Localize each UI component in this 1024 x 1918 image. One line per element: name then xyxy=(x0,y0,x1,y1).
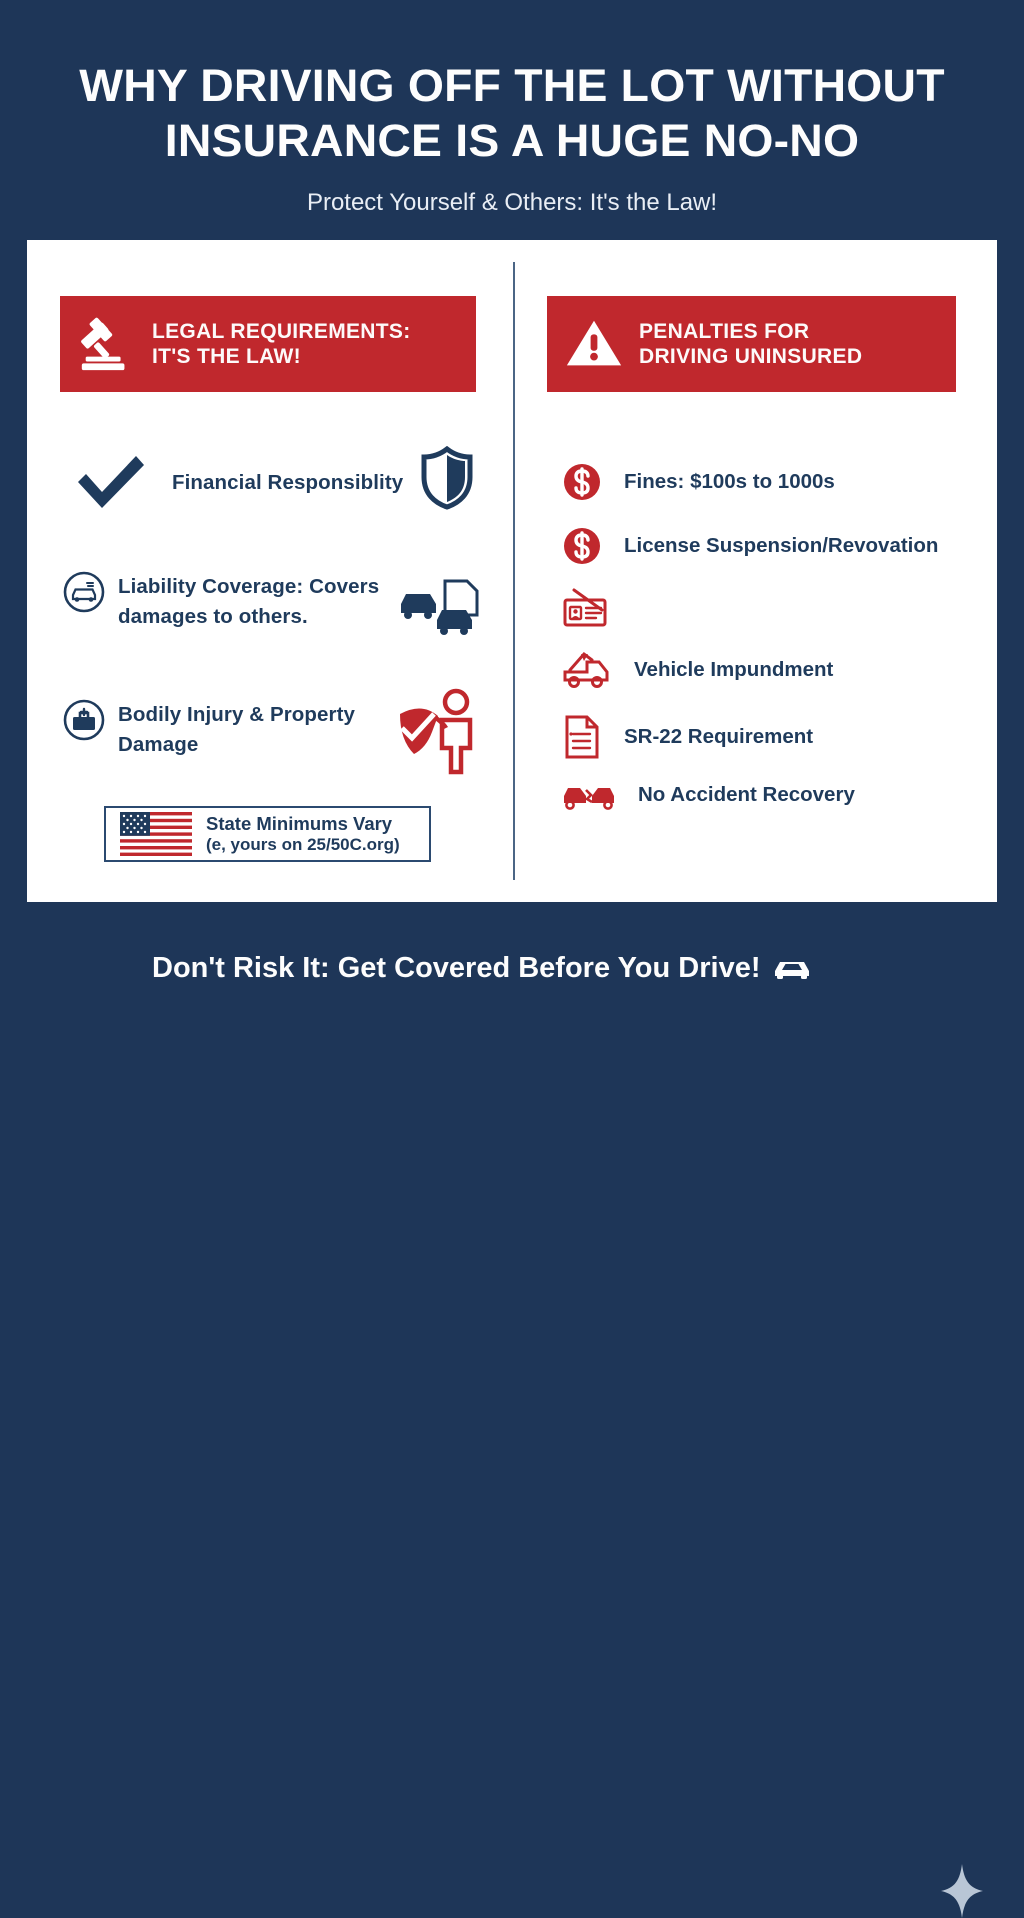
list-item: Financial Responsiblity xyxy=(72,452,482,514)
left-header-line-2: IT'S THE LAW! xyxy=(152,344,411,369)
list-item-label: SR-22 Requirement xyxy=(624,724,813,750)
left-header-line-1: LEGAL REQUIREMENTS: xyxy=(152,319,411,344)
list-item: Liability Coverage: Covers damages to ot… xyxy=(62,570,482,632)
list-item-label: Bodily Injury & Property Damage xyxy=(118,700,355,760)
title-line-2: INSURANCE IS A HUGE NO-NO xyxy=(0,113,1024,168)
page-title: WHY DRIVING OFF THE LOT WITHOUT INSURANC… xyxy=(0,58,1024,168)
crash-person-icon xyxy=(384,680,484,780)
infographic-poster: WHY DRIVING OFF THE LOT WITHOUT INSURANC… xyxy=(0,0,1024,1024)
dollar-circle-icon xyxy=(562,526,602,566)
two-cars-document-icon xyxy=(397,578,481,638)
list-item-label: Fines: $100s to 1000s xyxy=(624,469,835,495)
poster-header: WHY DRIVING OFF THE LOT WITHOUT INSURANC… xyxy=(0,0,1024,218)
footer-cta-label: Don't Risk It: Get Covered Before You Dr… xyxy=(152,948,761,988)
document-icon xyxy=(562,714,602,760)
right-header-line-1: PENALTIES FOR xyxy=(639,319,862,344)
list-item: SR-22 Requirement xyxy=(562,714,813,760)
list-item-line-1: Liability Coverage: Covers xyxy=(118,572,379,602)
dollar-circle-icon xyxy=(562,462,602,502)
list-item: No Accident Recovery xyxy=(562,778,855,812)
gavel-icon xyxy=(76,313,138,375)
sparkle-icon xyxy=(941,1864,983,1918)
state-minimums-box: State Minimums Vary (e, yours on 25/50C.… xyxy=(104,806,431,862)
left-header-text: LEGAL REQUIREMENTS: IT'S THE LAW! xyxy=(152,319,411,369)
left-column-header: LEGAL REQUIREMENTS: IT'S THE LAW! xyxy=(60,296,476,392)
list-item-label: No Accident Recovery xyxy=(638,782,855,808)
state-minimums-text: State Minimums Vary (e, yours on 25/50C.… xyxy=(206,813,400,855)
list-item: Bodily Injury & Property Damage xyxy=(62,698,482,760)
title-line-1: WHY DRIVING OFF THE LOT WITHOUT xyxy=(0,58,1024,113)
id-card-icon xyxy=(562,588,608,628)
warning-triangle-icon xyxy=(563,313,625,375)
list-item xyxy=(562,588,630,628)
poster-footer: Don't Risk It: Get Covered Before You Dr… xyxy=(0,920,1024,1024)
right-header-line-2: DRIVING UNINSURED xyxy=(639,344,862,369)
list-item-line-1: Bodily Injury & Property xyxy=(118,700,355,730)
list-item-label: Liability Coverage: Covers damages to ot… xyxy=(118,572,379,632)
car-circle-icon xyxy=(62,570,106,614)
state-minimums-line-2: (e, yours on 25/50C.org) xyxy=(206,834,400,855)
us-flag-icon xyxy=(120,812,192,856)
list-item-line-2: Damage xyxy=(118,730,355,760)
page-subtitle: Protect Yourself & Others: It's the Law! xyxy=(0,188,1024,218)
shield-icon xyxy=(420,446,474,510)
two-cars-collision-icon xyxy=(562,778,616,812)
checkmark-icon xyxy=(72,452,150,514)
tow-truck-icon xyxy=(562,650,612,690)
list-item-label: Financial Responsiblity xyxy=(172,468,403,498)
list-item-label: License Suspension/Revovation xyxy=(624,533,938,559)
list-item: License Suspension/Revovation xyxy=(562,526,938,566)
car-icon xyxy=(773,955,811,981)
list-item: Fines: $100s to 1000s xyxy=(562,462,835,502)
list-item-line-2: damages to others. xyxy=(118,602,379,632)
right-column-header: PENALTIES FOR DRIVING UNINSURED xyxy=(547,296,956,392)
footer-cta: Don't Risk It: Get Covered Before You Dr… xyxy=(152,948,811,988)
state-minimums-line-1: State Minimums Vary xyxy=(206,813,400,834)
list-item: Vehicle Impundment xyxy=(562,650,833,690)
list-item-label: Vehicle Impundment xyxy=(634,657,833,683)
list-item-line-1: Financial Responsiblity xyxy=(172,468,403,498)
column-divider xyxy=(513,262,515,880)
right-header-text: PENALTIES FOR DRIVING UNINSURED xyxy=(639,319,862,369)
briefcase-circle-icon xyxy=(62,698,106,742)
